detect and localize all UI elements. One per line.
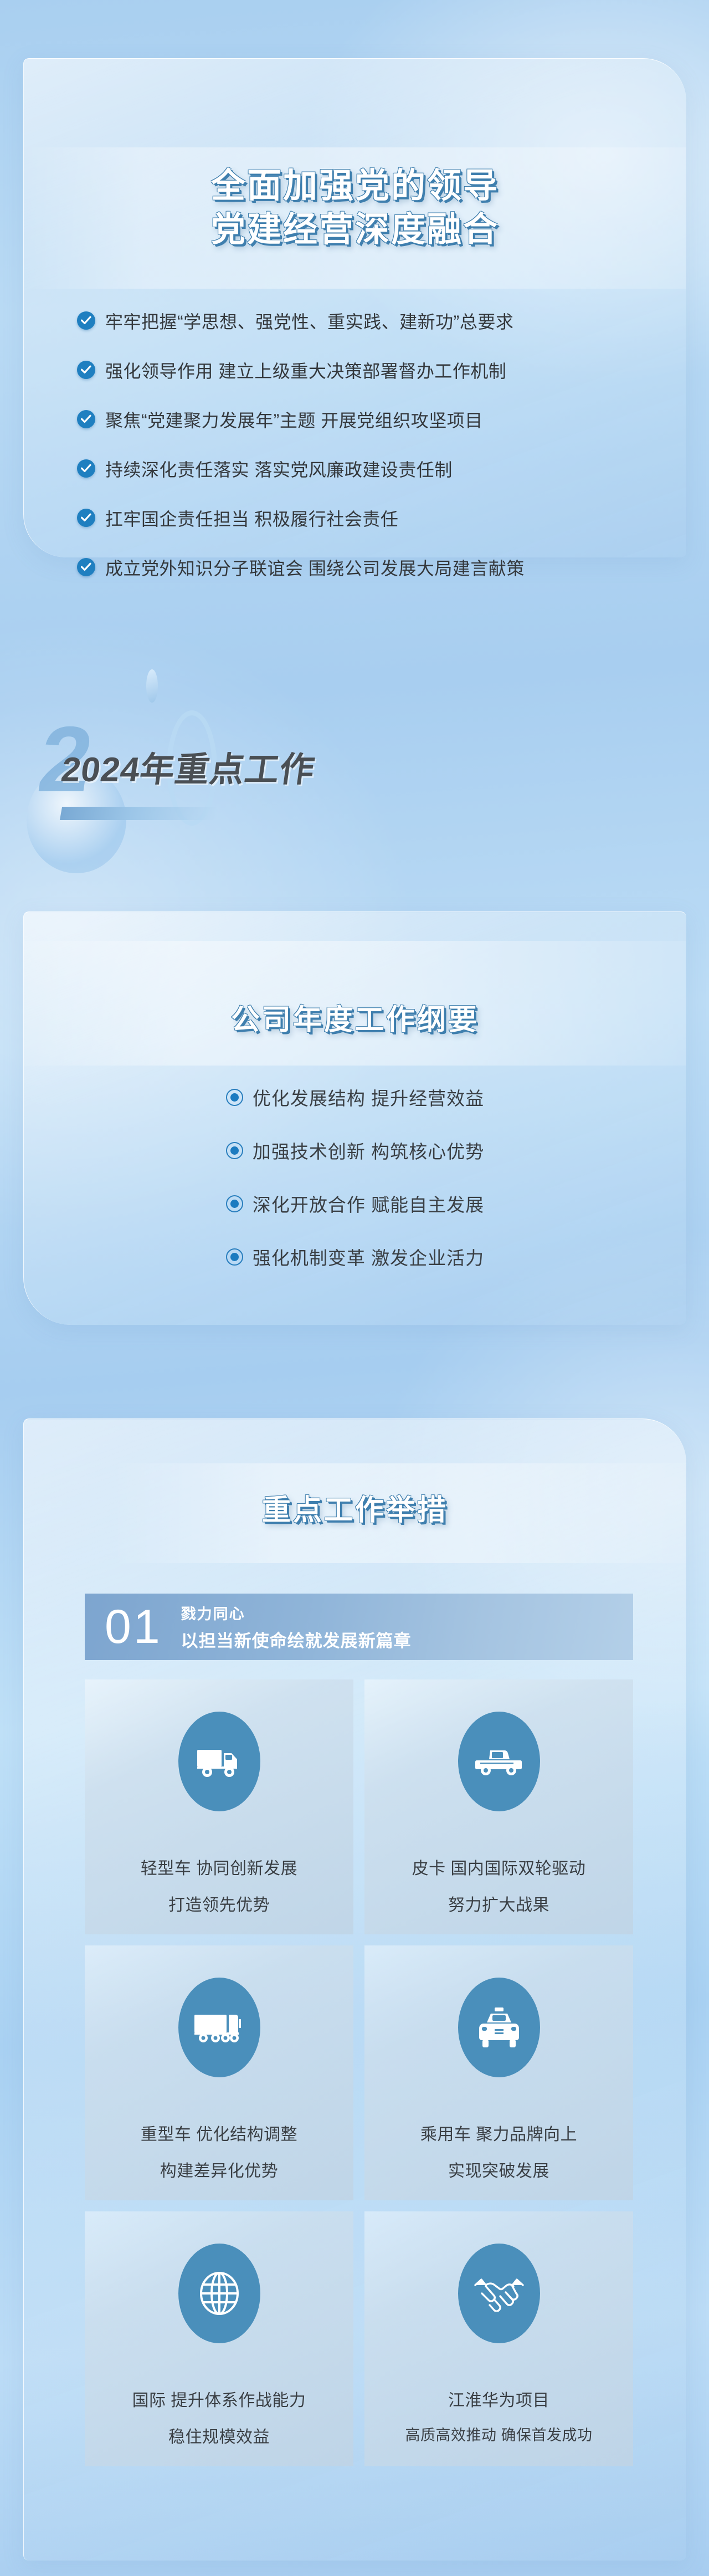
radio-icon [226, 1248, 243, 1266]
annual-work-outline-list: 优化发展结构 提升经营效益 加强技术创新 构筑核心优势 深化开放合作 赋能自主发… [24, 1084, 686, 1270]
check-circle-icon [77, 410, 95, 428]
party-leadership-bullet-list: 牢牢把握“学思想、强党性、重实践、建新功”总要求 强化领导作用 建立上级重大决策… [77, 308, 653, 580]
list-item: 持续深化责任落实 落实党风廉政建设责任制 [77, 456, 653, 482]
globe-icon [178, 2244, 260, 2343]
check-circle-icon [77, 509, 95, 527]
box-truck-icon [178, 1712, 260, 1811]
check-circle-icon [77, 459, 95, 478]
radio-icon [226, 1195, 243, 1212]
list-item: 牢牢把握“学思想、强党性、重实践、建新功”总要求 [77, 308, 653, 334]
tile-line2: 努力扩大战果 [448, 1891, 549, 1916]
list-item[interactable]: 国际 提升体系作战能力 稳住规模效益 [85, 2211, 353, 2466]
banner-line1: 戮力同心 [181, 1602, 412, 1624]
list-item: 扛牢国企责任担当 积极履行社会责任 [77, 505, 653, 531]
list-item-label: 扛牢国企责任担当 积极履行社会责任 [105, 505, 398, 531]
list-item-label: 优化发展结构 提升经营效益 [253, 1084, 484, 1110]
section-2-title: 2024年重点工作 [59, 741, 319, 791]
party-leadership-card: 全面加强党的领导 党建经营深度融合 牢牢把握“学思想、强党性、重实践、建新功”总… [23, 58, 686, 557]
list-item: 强化机制变革 激发企业活力 [24, 1243, 686, 1270]
list-item[interactable]: 乘用车 聚力品牌向上 实现突破发展 [364, 1945, 633, 2200]
tile-line2: 构建差异化优势 [160, 2157, 279, 2181]
tile-line1: 国际 提升体系作战能力 [132, 2386, 306, 2411]
measure-tile-grid: 轻型车 协同创新发展 打造领先优势 皮卡 国内国际双轮驱动 努力扩大战果 [85, 1679, 633, 2466]
section-2-header: 2 2024年重点工作 [0, 654, 709, 875]
card1-title-line2: 党建经营深度融合 [211, 211, 499, 249]
tile-line2: 实现突破发展 [448, 2157, 549, 2181]
decorative-dot-icon [146, 669, 158, 703]
tile-line1: 江淮华为项目 [448, 2386, 549, 2411]
banner-number: 01 [105, 1603, 162, 1651]
annual-work-outline-card: 公司年度工作纲要 优化发展结构 提升经营效益 加强技术创新 构筑核心优势 深化开… [23, 911, 686, 1325]
tile-line1: 重型车 优化结构调整 [141, 2121, 297, 2145]
tile-line2: 稳住规模效益 [168, 2423, 270, 2447]
tile-line1: 皮卡 国内国际双轮驱动 [412, 1855, 586, 1879]
key-measures-card: 重点工作举措 01 戮力同心 以担当新使命绘就发展新篇章 [23, 1418, 686, 2560]
check-circle-icon [77, 558, 95, 576]
list-item[interactable]: 轻型车 协同创新发展 打造领先优势 [85, 1679, 353, 1934]
card1-title-line1: 全面加强党的领导 [211, 167, 499, 205]
tile-line2: 高质高效推动 确保首发成功 [405, 2423, 592, 2445]
tile-line1: 乘用车 聚力品牌向上 [420, 2121, 577, 2145]
list-item-label: 深化开放合作 赋能自主发展 [253, 1190, 484, 1217]
list-item-label: 聚焦“党建聚力发展年”主题 开展党组织攻坚项目 [105, 407, 483, 432]
list-item[interactable]: 江淮华为项目 高质高效推动 确保首发成功 [364, 2211, 633, 2466]
measure-banner-01: 01 戮力同心 以担当新使命绘就发展新篇章 [85, 1594, 633, 1660]
list-item: 聚焦“党建聚力发展年”主题 开展党组织攻坚项目 [77, 407, 653, 432]
list-item-label: 强化领导作用 建立上级重大决策部署督办工作机制 [105, 357, 506, 383]
infographic-poster: 全面加强党的领导 党建经营深度融合 牢牢把握“学思想、强党性、重实践、建新功”总… [0, 0, 709, 2576]
list-item: 加强技术创新 构筑核心优势 [24, 1137, 686, 1164]
list-item[interactable]: 重型车 优化结构调整 构建差异化优势 [85, 1945, 353, 2200]
check-circle-icon [77, 311, 95, 330]
heavy-truck-icon [178, 1978, 260, 2077]
list-item-label: 成立党外知识分子联谊会 围绕公司发展大局建言献策 [105, 555, 525, 580]
card1-title: 全面加强党的领导 党建经营深度融合 [24, 164, 686, 252]
list-item-label: 牢牢把握“学思想、强党性、重实践、建新功”总要求 [105, 308, 513, 334]
list-item: 深化开放合作 赋能自主发展 [24, 1190, 686, 1217]
card2-title: 公司年度工作纲要 [24, 1002, 686, 1039]
radio-icon [226, 1089, 243, 1106]
banner-line2: 以担当新使命绘就发展新篇章 [181, 1627, 412, 1652]
passenger-car-icon [458, 1978, 540, 2077]
tile-line2: 打造领先优势 [168, 1891, 270, 1916]
list-item: 优化发展结构 提升经营效益 [24, 1084, 686, 1110]
banner-text: 戮力同心 以担当新使命绘就发展新篇章 [181, 1602, 412, 1652]
handshake-icon [458, 2244, 540, 2343]
list-item: 成立党外知识分子联谊会 围绕公司发展大局建言献策 [77, 555, 653, 580]
list-item-label: 持续深化责任落实 落实党风廉政建设责任制 [105, 456, 453, 482]
tile-line1: 轻型车 协同创新发展 [141, 1855, 297, 1879]
section-underline [60, 807, 219, 820]
check-circle-icon [77, 361, 95, 379]
list-item[interactable]: 皮卡 国内国际双轮驱动 努力扩大战果 [364, 1679, 633, 1934]
list-item-label: 强化机制变革 激发企业活力 [253, 1243, 484, 1270]
list-item: 强化领导作用 建立上级重大决策部署督办工作机制 [77, 357, 653, 383]
card3-title: 重点工作举措 [24, 1492, 686, 1529]
list-item-label: 加强技术创新 构筑核心优势 [253, 1137, 484, 1164]
radio-icon [226, 1142, 243, 1159]
pickup-truck-icon [458, 1712, 540, 1811]
